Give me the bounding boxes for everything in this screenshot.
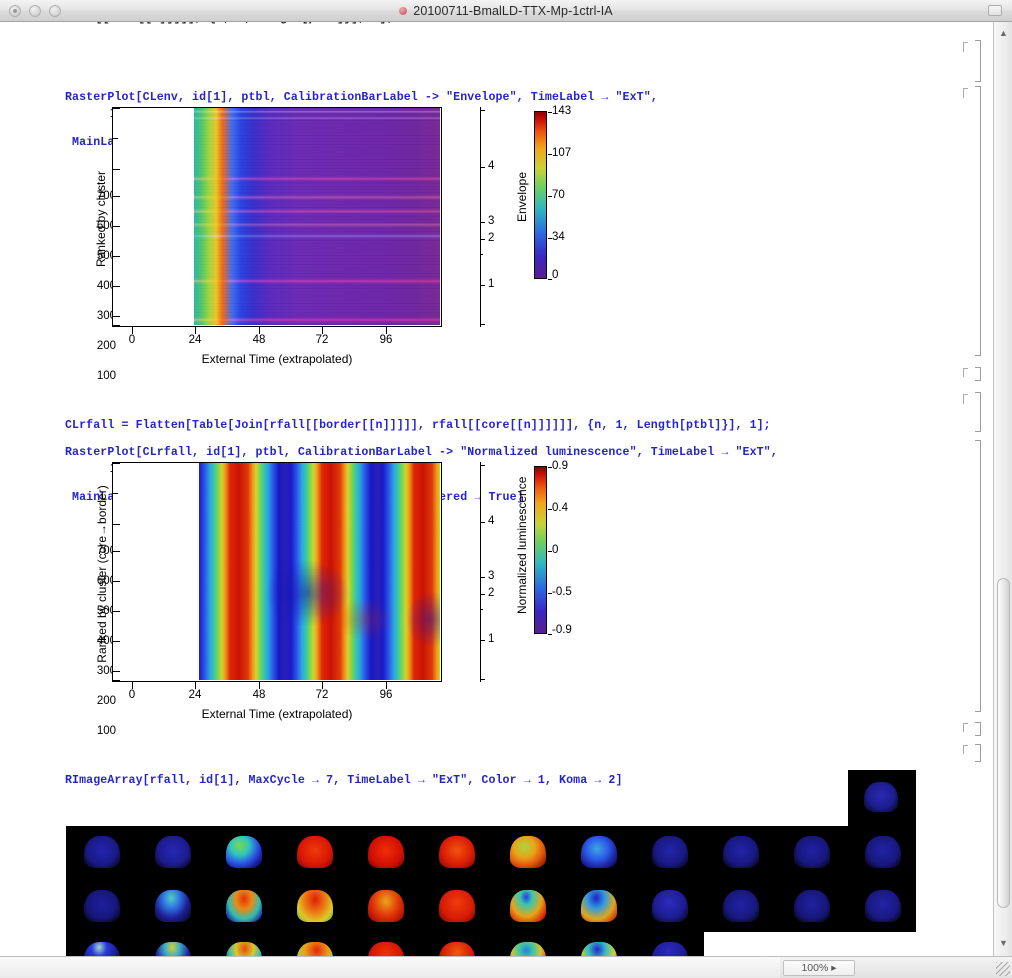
horizontal-scroll-track[interactable] bbox=[0, 957, 780, 978]
array-cell bbox=[510, 836, 546, 868]
array-cell bbox=[155, 836, 191, 868]
resize-grip[interactable] bbox=[996, 962, 1010, 976]
array-cell bbox=[226, 836, 262, 868]
scroll-up-arrow-icon[interactable]: ▲ bbox=[998, 28, 1009, 39]
close-button[interactable] bbox=[9, 5, 21, 17]
window-title: 20100711-BmalLD-TTX-Mp-1ctrl-IA bbox=[413, 4, 612, 18]
array-cell bbox=[368, 836, 404, 868]
array-cell bbox=[84, 836, 120, 868]
cell-bracket-marker[interactable] bbox=[963, 42, 970, 52]
array-cell bbox=[155, 890, 191, 922]
cell-bracket-input-4[interactable] bbox=[973, 722, 981, 736]
array-block-main bbox=[66, 826, 916, 932]
array-cell bbox=[581, 890, 617, 922]
zoom-level-selector[interactable]: 100% ▸ bbox=[783, 960, 855, 976]
array-cell bbox=[297, 836, 333, 868]
scroll-down-arrow-icon[interactable]: ▼ bbox=[998, 938, 1009, 949]
array-cell bbox=[864, 782, 898, 812]
array-cell bbox=[865, 890, 901, 922]
cell-bracket-marker[interactable] bbox=[963, 394, 970, 404]
cell-bracket-input-1[interactable] bbox=[973, 40, 981, 82]
window-controls[interactable] bbox=[9, 5, 61, 17]
modified-indicator-icon bbox=[399, 7, 407, 15]
toolbar-toggle-button[interactable] bbox=[988, 5, 1002, 16]
array-cell bbox=[368, 890, 404, 922]
array-cell bbox=[794, 836, 830, 868]
vertical-scrollbar[interactable]: ▲ ▼ bbox=[993, 22, 1012, 956]
title-bar[interactable]: 20100711-BmalLD-TTX-Mp-1ctrl-IA bbox=[0, 0, 1012, 22]
array-cell bbox=[297, 890, 333, 922]
cell-bracket-input-3[interactable] bbox=[973, 392, 981, 432]
array-cell bbox=[865, 836, 901, 868]
cell-bracket-output-2[interactable] bbox=[973, 440, 981, 712]
array-cell bbox=[794, 890, 830, 922]
cell-bracket-marker[interactable] bbox=[963, 723, 970, 732]
cell-bracket-input-5[interactable] bbox=[973, 744, 981, 762]
cell-bracket-input-2[interactable] bbox=[973, 367, 981, 381]
array-cell bbox=[439, 836, 475, 868]
cell-bracket-marker[interactable] bbox=[963, 88, 970, 98]
notebook-window: 20100711-BmalLD-TTX-Mp-1ctrl-IA rfall[[c… bbox=[0, 0, 1012, 978]
image-array-output bbox=[0, 22, 993, 956]
vertical-scroll-thumb[interactable] bbox=[997, 578, 1010, 908]
array-cell bbox=[652, 836, 688, 868]
cell-bracket-marker[interactable] bbox=[963, 368, 970, 377]
notebook-canvas[interactable]: rfall[[core[[n]]]]], {n, 1, Length[ptbl]… bbox=[0, 22, 993, 956]
array-cell bbox=[510, 890, 546, 922]
array-cell bbox=[723, 836, 759, 868]
array-cell bbox=[439, 890, 475, 922]
title-container: 20100711-BmalLD-TTX-Mp-1ctrl-IA bbox=[0, 0, 1012, 22]
array-cell bbox=[84, 890, 120, 922]
minimize-button[interactable] bbox=[29, 5, 41, 17]
cell-bracket-output-1[interactable] bbox=[973, 86, 981, 356]
array-cell bbox=[226, 890, 262, 922]
zoom-button[interactable] bbox=[49, 5, 61, 17]
array-cell bbox=[581, 836, 617, 868]
cell-bracket-marker[interactable] bbox=[963, 745, 970, 754]
array-cell bbox=[723, 890, 759, 922]
array-cell bbox=[652, 890, 688, 922]
status-bar: 100% ▸ bbox=[0, 956, 1012, 978]
